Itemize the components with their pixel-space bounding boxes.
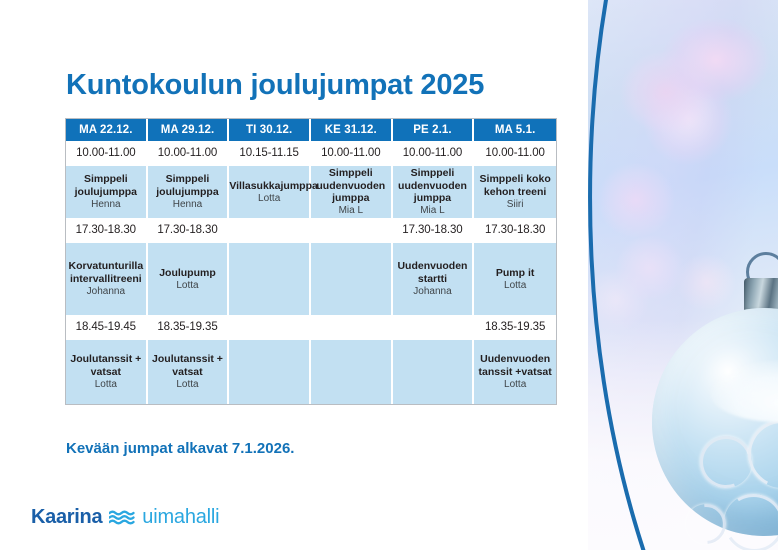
class-teacher: Henna — [66, 199, 146, 211]
schedule-table-body: 10.00-11.00 10.00-11.00 10.15-11.15 10.0… — [66, 141, 556, 404]
class-slot: Pump it Lotta — [474, 242, 556, 315]
time-slot: 18.35-19.35 — [474, 315, 556, 339]
time-slot: 10.15-11.15 — [229, 141, 311, 165]
time-slot: 17.30-18.30 — [66, 218, 148, 242]
class-teacher: Lotta — [474, 280, 556, 292]
time-slot: 10.00-11.00 — [393, 141, 475, 165]
logo-suffix-text: uimahalli — [142, 506, 219, 529]
class-slot: Simppeli uudenvuoden jumppa Mia L — [311, 165, 393, 218]
class-row: Simppeli joulujumppa Henna Simppeli joul… — [66, 165, 556, 218]
column-header-day: MA 29.12. — [148, 119, 230, 141]
class-slot: Simppeli joulujumppa Henna — [148, 165, 230, 218]
class-teacher: Johanna — [393, 286, 473, 298]
class-slot: Simppeli joulujumppa Henna — [66, 165, 148, 218]
class-row: Korvatunturilla intervallitreeni Johanna… — [66, 242, 556, 315]
class-teacher: Johanna — [66, 286, 146, 298]
page-title: Kuntokoulun joulujumpat 2025 — [66, 69, 484, 102]
schedule-table: MA 22.12. MA 29.12. TI 30.12. KE 31.12. … — [66, 119, 556, 404]
time-row: 10.00-11.00 10.00-11.00 10.15-11.15 10.0… — [66, 141, 556, 165]
class-teacher: Siiri — [474, 199, 556, 211]
class-name: Simppeli uudenvuoden jumppa — [393, 167, 473, 204]
schedule-table-head: MA 22.12. MA 29.12. TI 30.12. KE 31.12. … — [66, 119, 556, 141]
kaarina-uimahalli-logo: Kaarina uimahalli — [31, 506, 219, 529]
class-name: Simppeli koko kehon treeni — [474, 173, 556, 198]
class-slot-empty — [311, 339, 393, 404]
time-slot — [311, 218, 393, 242]
class-row: Joulutanssit + vatsat Lotta Joulutanssit… — [66, 339, 556, 404]
class-name: Villasukkajumppa — [229, 180, 309, 192]
class-teacher: Lotta — [148, 379, 228, 391]
time-slot: 17.30-18.30 — [393, 218, 475, 242]
time-slot: 10.00-11.00 — [66, 141, 148, 165]
class-slot: Joulutanssit + vatsat Lotta — [66, 339, 148, 404]
class-slot-empty — [393, 339, 475, 404]
class-slot: Simppeli koko kehon treeni Siiri — [474, 165, 556, 218]
class-slot: Uudenvuoden startti Johanna — [393, 242, 475, 315]
ornament-frost-cap — [710, 360, 778, 422]
class-name: Simppeli joulujumppa — [148, 173, 228, 198]
time-slot — [393, 315, 475, 339]
ornament-ball — [652, 308, 778, 536]
class-name: Joulupump — [148, 267, 228, 279]
class-name: Uudenvuoden tanssit +vatsat — [474, 353, 556, 378]
christmas-ornament-icon — [646, 250, 778, 550]
class-teacher: Mia L — [311, 205, 391, 217]
class-name: Pump it — [474, 267, 556, 279]
time-slot: 10.00-11.00 — [311, 141, 393, 165]
time-slot: 17.30-18.30 — [148, 218, 230, 242]
class-name: Simppeli joulujumppa — [66, 173, 146, 198]
ornament-swirl — [719, 488, 778, 550]
table-header-row: MA 22.12. MA 29.12. TI 30.12. KE 31.12. … — [66, 119, 556, 141]
class-teacher: Lotta — [66, 379, 146, 391]
column-header-day: TI 30.12. — [229, 119, 311, 141]
column-header-day: MA 5.1. — [474, 119, 556, 141]
class-name: Simppeli uudenvuoden jumppa — [311, 167, 391, 204]
column-header-day: PE 2.1. — [393, 119, 475, 141]
column-header-day: KE 31.12. — [311, 119, 393, 141]
class-teacher: Lotta — [474, 379, 556, 391]
time-slot: 17.30-18.30 — [474, 218, 556, 242]
time-slot: 10.00-11.00 — [148, 141, 230, 165]
time-row: 18.45-19.45 18.35-19.35 18.35-19.35 — [66, 315, 556, 339]
class-teacher: Lotta — [229, 193, 309, 205]
class-teacher: Henna — [148, 199, 228, 211]
class-slot-empty — [229, 339, 311, 404]
footer-note: Kevään jumpat alkavat 7.1.2026. — [66, 440, 294, 457]
time-slot — [311, 315, 393, 339]
class-name: Korvatunturilla intervallitreeni — [66, 260, 146, 285]
class-slot: Joulupump Lotta — [148, 242, 230, 315]
column-header-day: MA 22.12. — [66, 119, 148, 141]
class-slot: Korvatunturilla intervallitreeni Johanna — [66, 242, 148, 315]
class-name: Uudenvuoden startti — [393, 260, 473, 285]
decorative-photo-panel — [588, 0, 778, 550]
time-slot: 18.45-19.45 — [66, 315, 148, 339]
class-slot: Uudenvuoden tanssit +vatsat Lotta — [474, 339, 556, 404]
time-slot — [229, 218, 311, 242]
class-slot: Villasukkajumppa Lotta — [229, 165, 311, 218]
logo-brand-text: Kaarina — [31, 506, 102, 529]
ornament-swirl — [678, 496, 734, 550]
class-slot-empty — [311, 242, 393, 315]
time-row: 17.30-18.30 17.30-18.30 17.30-18.30 17.3… — [66, 218, 556, 242]
time-slot — [229, 315, 311, 339]
class-teacher: Mia L — [393, 205, 473, 217]
class-name: Joulutanssit + vatsat — [66, 353, 146, 378]
class-name: Joulutanssit + vatsat — [148, 353, 228, 378]
time-slot: 18.35-19.35 — [148, 315, 230, 339]
class-slot: Joulutanssit + vatsat Lotta — [148, 339, 230, 404]
time-slot: 10.00-11.00 — [474, 141, 556, 165]
class-slot: Simppeli uudenvuoden jumppa Mia L — [393, 165, 475, 218]
wave-icon — [109, 510, 135, 525]
class-slot-empty — [229, 242, 311, 315]
class-teacher: Lotta — [148, 280, 228, 292]
